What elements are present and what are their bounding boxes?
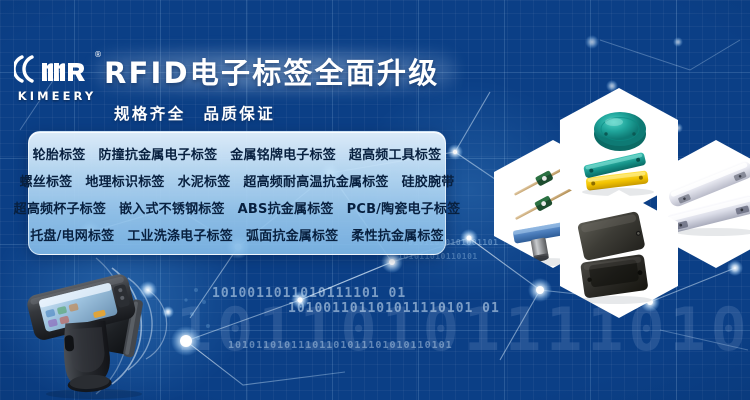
- binary-overlay-line-3: 10101101011101101011101010110101: [228, 340, 453, 351]
- rfid-promo-banner: 10110101111010101 1010011011010111101 01…: [0, 0, 750, 400]
- tag-item[interactable]: 金属铭牌电子标签: [230, 144, 336, 163]
- tag-row: 螺丝标签 地理标识标签 水泥标签 超高频耐高温抗金属标签 硅胶腕带: [29, 167, 445, 194]
- tag-item[interactable]: 水泥标签: [178, 171, 231, 190]
- binary-overlay-line-1: 1010011011010111101 01: [212, 286, 406, 301]
- page-subtitle: 规格齐全 品质保证: [114, 102, 275, 124]
- tag-row: 托盘/电网标签 工业洗涤电子标签 弧面抗金属标签 柔性抗金属标签: [29, 221, 445, 248]
- product-tag-panel: 轮胎标签 防撞抗金属电子标签 金属铭牌电子标签 超高频工具标签 螺丝标签 地理标…: [28, 131, 446, 255]
- kimeery-logo[interactable]: ® KIMEERY: [14, 52, 100, 103]
- tag-item[interactable]: 托盘/电网标签: [30, 225, 114, 244]
- tag-item[interactable]: 超高频杯子标签: [14, 198, 106, 217]
- tag-item[interactable]: 超高频工具标签: [349, 144, 441, 163]
- binary-overlay-line-2: 101001101101011110101 01: [288, 301, 500, 316]
- tag-item[interactable]: 地理标识标签: [85, 171, 164, 190]
- handheld-rfid-reader[interactable]: [22, 262, 182, 400]
- tag-row: 轮胎标签 防撞抗金属电子标签 金属铭牌电子标签 超高频工具标签: [29, 140, 445, 167]
- tag-item[interactable]: 防撞抗金属电子标签: [98, 144, 217, 163]
- page-title: RFID电子标签全面升级: [104, 51, 452, 91]
- tag-item[interactable]: 弧面抗金属标签: [246, 225, 338, 244]
- tag-item[interactable]: 嵌入式不锈钢标签: [119, 198, 225, 217]
- tag-item[interactable]: PCB/陶瓷电子标签: [347, 198, 461, 217]
- handheld-rfid-reader-photo: [22, 262, 182, 400]
- tag-item[interactable]: 超高频耐高温抗金属标签: [243, 171, 388, 190]
- tag-item[interactable]: 螺丝标签: [20, 171, 73, 190]
- tag-row: 超高频杯子标签 嵌入式不锈钢标签 ABS抗金属标签 PCB/陶瓷电子标签: [29, 194, 445, 221]
- tag-item[interactable]: 硅胶腕带: [402, 171, 455, 190]
- logo-wordmark: KIMEERY: [14, 89, 100, 103]
- tag-item[interactable]: 柔性抗金属标签: [351, 225, 443, 244]
- tag-item[interactable]: ABS抗金属标签: [238, 198, 334, 217]
- tag-item[interactable]: 轮胎标签: [33, 144, 86, 163]
- logo-mark-icon: ®: [14, 52, 100, 86]
- tag-item[interactable]: 工业洗涤电子标签: [127, 225, 233, 244]
